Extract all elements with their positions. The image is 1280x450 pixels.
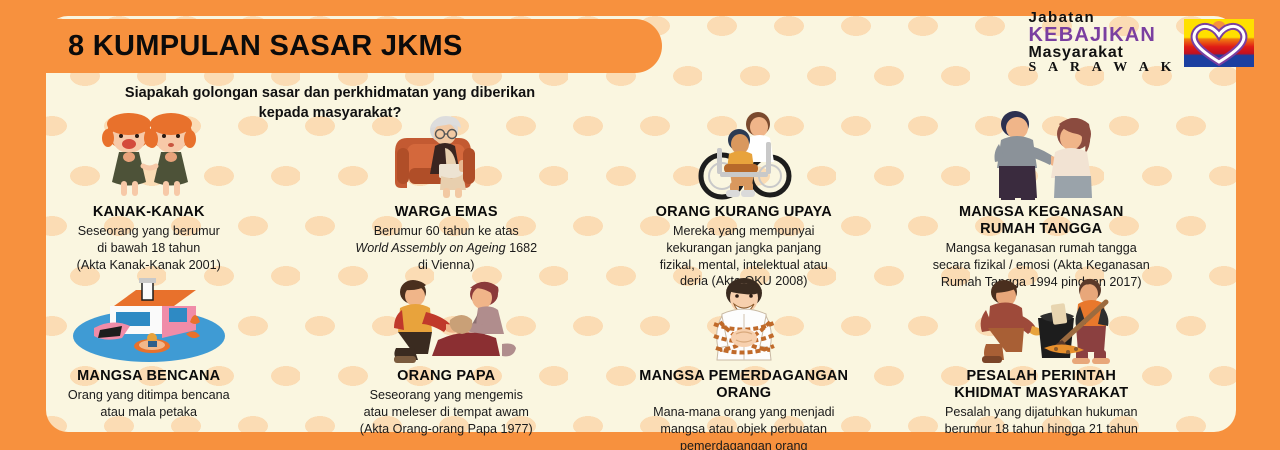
- subtitle-line-2: kepada masyarakat?: [0, 104, 660, 124]
- page-title: 8 KUMPULAN SASAR JKMS: [68, 30, 463, 63]
- subtitle-line-1: Siapakah golongan sasar dan perkhidmatan…: [0, 84, 660, 104]
- subtitle: Siapakah golongan sasar dan perkhidmatan…: [0, 84, 660, 123]
- title-line: MANGSA PEMERDAGANGAN: [639, 368, 848, 385]
- card-description: Berumur 60 tahun ke atas World Assembly …: [355, 223, 537, 273]
- card-title: WARGA EMAS: [395, 204, 498, 221]
- desc-line-italic: World Assembly on Ageing 1682: [355, 240, 537, 257]
- card-title: MANGSA BENCANA: [77, 368, 220, 385]
- heart-logo-icon: [1180, 15, 1258, 71]
- agency-logo: Jabatan KEBAJIKAN Masyarakat S A R A W A…: [1029, 10, 1258, 75]
- infographic-poster: 8 KUMPULAN SASAR JKMS Jabatan KEBAJIKAN …: [0, 0, 1280, 450]
- community-service-workers-icon: [956, 272, 1126, 364]
- bound-person-icon: [682, 272, 806, 364]
- card-title: PESALAH PERINTAH KHIDMAT MASYARAKAT: [954, 368, 1128, 402]
- logo-line-kebajikan: KEBAJIKAN: [1029, 25, 1176, 45]
- desc-line: Berumur 60 tahun ke atas: [355, 223, 537, 240]
- desc-line: Seseorang yang berumur: [77, 223, 221, 240]
- card-kanak-kanak: KANAK-KANAK Seseorang yang berumur di ba…: [0, 108, 298, 290]
- logo-line-sarawak: S A R A W A K: [1029, 61, 1176, 75]
- card-mangsa-pemerdagangan-orang: MANGSA PEMERDAGANGAN ORANG Mana-mana ora…: [595, 272, 893, 450]
- card-title: ORANG PAPA: [397, 368, 495, 385]
- desc-line: di Vienna): [355, 257, 537, 274]
- title-line: ORANG: [639, 385, 848, 402]
- desc-line: mangsa atau objek perbuatan: [631, 421, 856, 438]
- agency-logo-text: Jabatan KEBAJIKAN Masyarakat S A R A W A…: [1029, 10, 1176, 75]
- card-title: ORANG KURANG UPAYA: [656, 204, 832, 221]
- card-warga-emas: WARGA EMAS Berumur 60 tahun ke atas Worl…: [298, 108, 596, 290]
- desc-line: Mereka yang mempunyai: [660, 223, 828, 240]
- desc-line: (Akta Orang-orang Papa 1977): [360, 421, 533, 438]
- card-row-top: KANAK-KANAK Seseorang yang berumur di ba…: [0, 108, 1190, 290]
- desc-line: di bawah 18 tahun: [77, 240, 221, 257]
- card-row-bottom: MANGSA BENCANA Orang yang ditimpa bencan…: [0, 272, 1190, 450]
- desc-line: Pesalah yang dijatuhkan hukuman: [945, 404, 1138, 421]
- logo-line-masyarakat: Masyarakat: [1029, 45, 1176, 61]
- domestic-violence-icon: [971, 108, 1111, 200]
- card-description: Seseorang yang mengemis atau meleser di …: [360, 387, 533, 437]
- title-line: PESALAH PERINTAH: [954, 368, 1128, 385]
- title-line: RUMAH TANGGA: [959, 221, 1124, 238]
- card-description: Seseorang yang berumur di bawah 18 tahun…: [77, 223, 221, 273]
- card-title: KANAK-KANAK: [93, 204, 205, 221]
- card-description: Mana-mana orang yang menjadi mangsa atau…: [631, 404, 856, 450]
- desc-line: Orang yang ditimpa bencana: [68, 387, 230, 404]
- desc-line: berumur 18 tahun hingga 21 tahun: [945, 421, 1138, 438]
- title-banner: 8 KUMPULAN SASAR JKMS: [0, 19, 662, 73]
- flooded-house-icon: [64, 272, 234, 364]
- desc-line: atau meleser di tempat awam: [360, 404, 533, 421]
- card-title: MANGSA PEMERDAGANGAN ORANG: [639, 368, 848, 402]
- desc-line: atau mala petaka: [68, 404, 230, 421]
- desc-line: Seseorang yang mengemis: [360, 387, 533, 404]
- card-orang-papa: ORANG PAPA Seseorang yang mengemis atau …: [298, 272, 596, 450]
- desc-line: Mana-mana orang yang menjadi: [631, 404, 856, 421]
- logo-line-jabatan: Jabatan: [1029, 10, 1176, 25]
- desc-line: pemerdagangan orang: [631, 438, 856, 450]
- desc-line: (Akta Kanak-Kanak 2001): [77, 257, 221, 274]
- begging-person-icon: [366, 272, 526, 364]
- wheelchair-user-icon: [684, 108, 804, 200]
- card-description: Orang yang ditimpa bencana atau mala pet…: [68, 387, 230, 420]
- desc-line: kekurangan jangka panjang: [660, 240, 828, 257]
- card-mangsa-keganasan-rumah-tangga: MANGSA KEGANASAN RUMAH TANGGA Mangsa keg…: [893, 108, 1191, 290]
- desc-line: Mangsa keganasan rumah tangga: [933, 240, 1150, 257]
- title-line: KHIDMAT MASYARAKAT: [954, 385, 1128, 402]
- card-mangsa-bencana: MANGSA BENCANA Orang yang ditimpa bencan…: [0, 272, 298, 450]
- card-pesalah-perintah-khidmat-masyarakat: PESALAH PERINTAH KHIDMAT MASYARAKAT Pesa…: [893, 272, 1191, 450]
- card-orang-kurang-upaya: ORANG KURANG UPAYA Mereka yang mempunyai…: [595, 108, 893, 290]
- desc-line: fizikal, mental, intelektual atau: [660, 257, 828, 274]
- card-title: MANGSA KEGANASAN RUMAH TANGGA: [959, 204, 1124, 238]
- title-line: MANGSA KEGANASAN: [959, 204, 1124, 221]
- card-description: Pesalah yang dijatuhkan hukuman berumur …: [945, 404, 1138, 437]
